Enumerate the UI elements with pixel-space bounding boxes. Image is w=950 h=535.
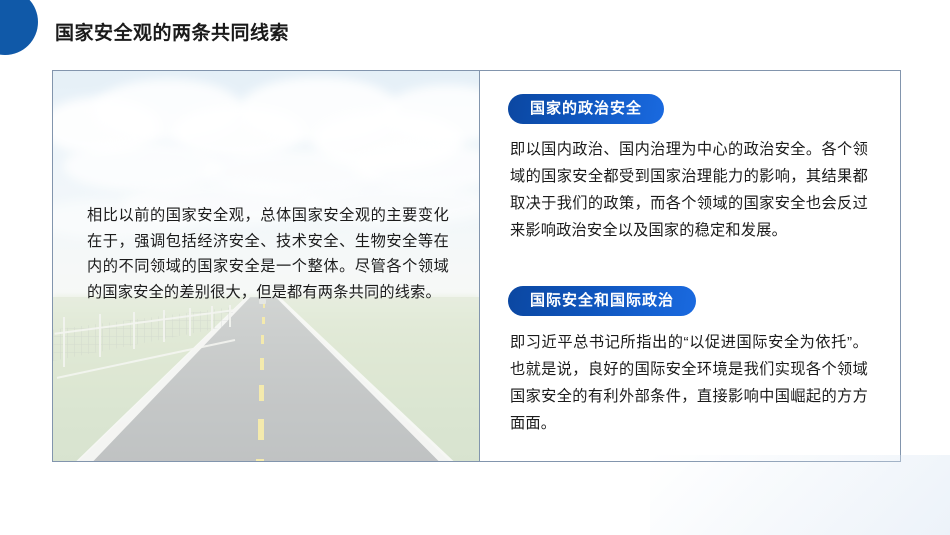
fence-post	[211, 306, 213, 331]
fence-post	[133, 312, 135, 349]
decorative-corner-circle	[0, 0, 38, 55]
section-badge-political-security: 国家的政治安全	[508, 94, 664, 124]
road-center-dash	[258, 419, 264, 440]
content-frame: 相比以前的国家安全观，总体国家安全观的主要变化在于，强调包括经济安全、技术安全、…	[52, 70, 901, 462]
section-badge-international-security: 国际安全和国际政治	[508, 286, 696, 316]
section-body-international-security: 即习近平总书记所指出的“以促进国际安全为依托”。也就是说，良好的国际安全环境是我…	[510, 329, 868, 437]
section-body-political-security: 即以国内政治、国内治理为中心的政治安全。各个领域的国家安全都受到国家治理能力的影…	[510, 136, 868, 244]
road-center-dash	[256, 459, 264, 461]
road-center-dash	[261, 335, 264, 344]
photo-panel: 相比以前的国家安全观，总体国家安全观的主要变化在于，强调包括经济安全、技术安全、…	[53, 71, 480, 461]
page-title: 国家安全观的两条共同线索	[55, 18, 289, 45]
road-center-dash	[259, 385, 264, 401]
photo-caption-text: 相比以前的国家安全观，总体国家安全观的主要变化在于，强调包括经济安全、技术安全、…	[87, 203, 449, 305]
fence-post	[99, 314, 101, 357]
road-center-dash	[260, 358, 264, 370]
fence-post	[189, 308, 191, 336]
road-center-dash	[262, 317, 265, 324]
fence-post	[63, 317, 65, 367]
corner-gradient-wash	[650, 455, 950, 535]
text-panel: 国家的政治安全 即以国内政治、国内治理为中心的政治安全。各个领域的国家安全都受到…	[480, 71, 900, 461]
fence-post	[229, 305, 231, 327]
fence-post	[163, 310, 165, 342]
